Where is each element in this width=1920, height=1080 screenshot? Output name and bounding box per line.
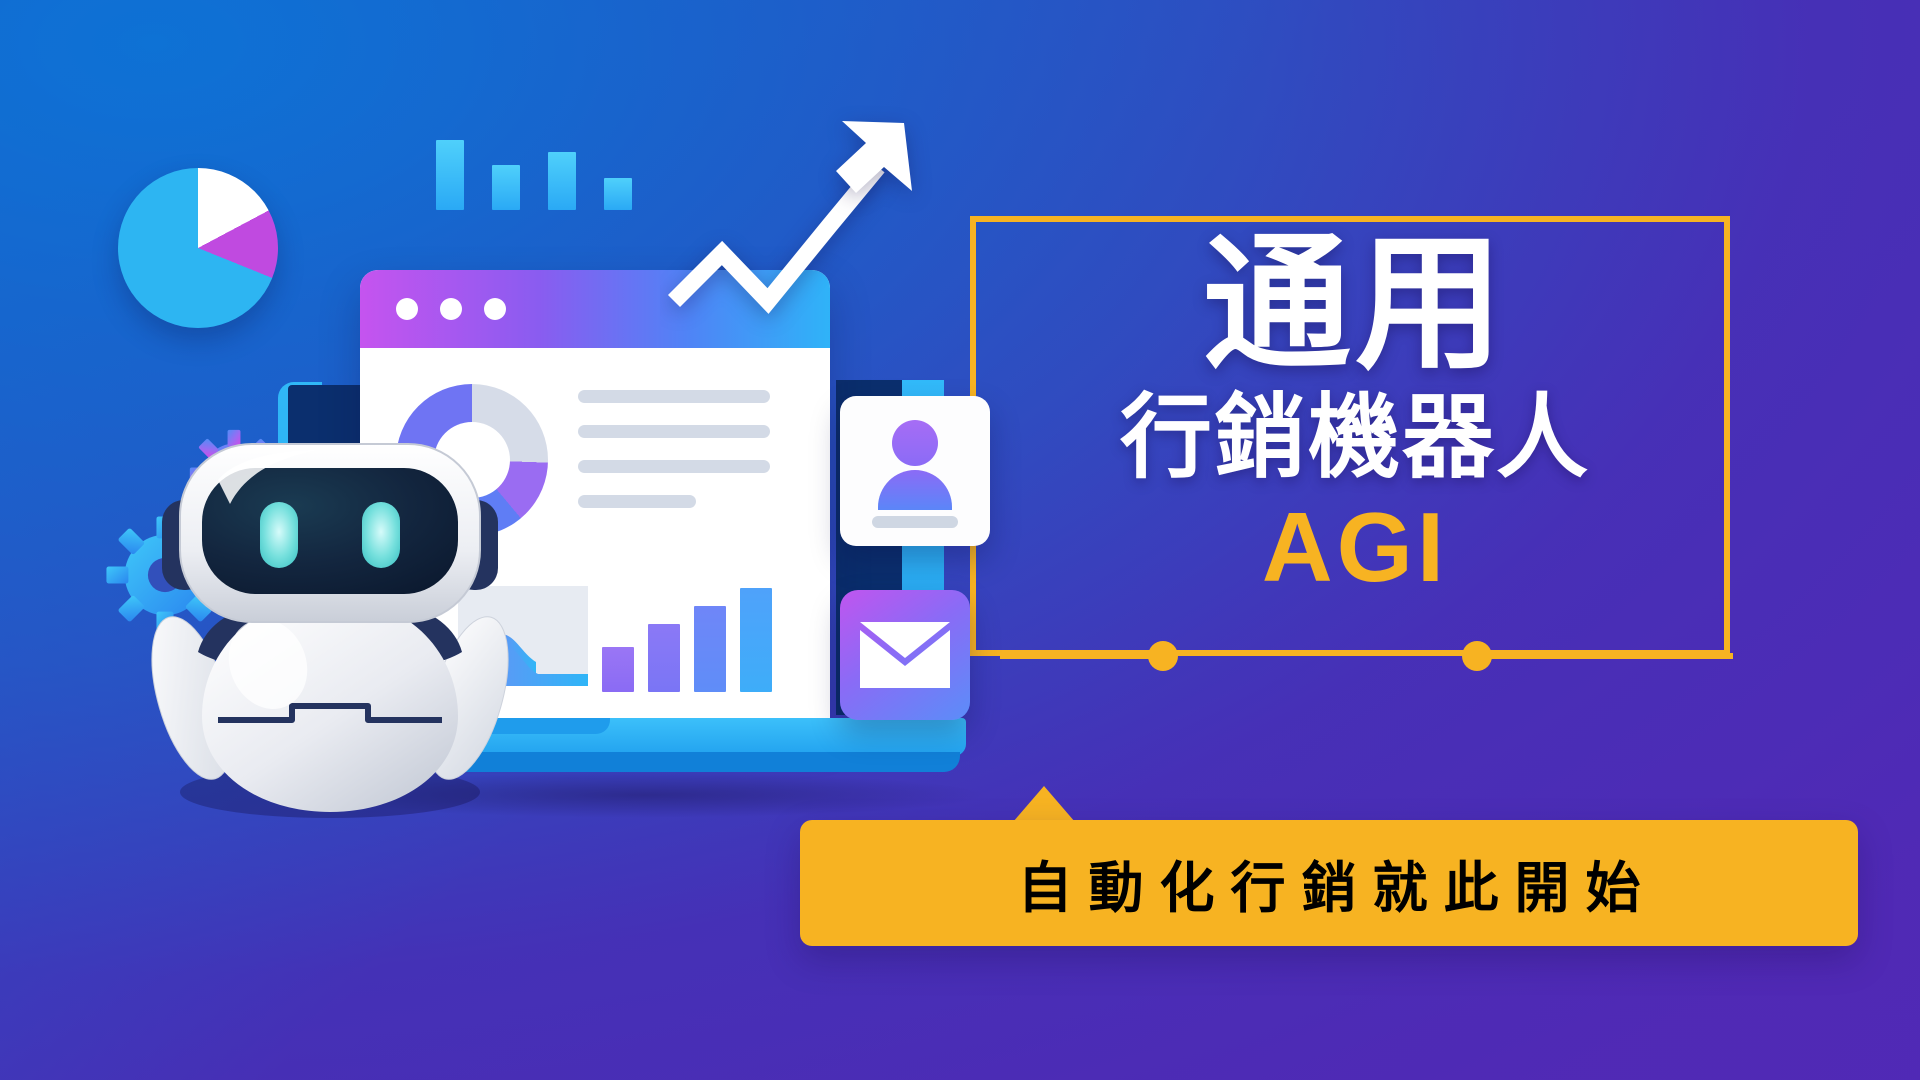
banner-text: 自動化行銷就此開始 [1001,843,1656,923]
headline-line-2: 行銷機器人 [1010,384,1700,493]
window-control-dot-icon[interactable] [440,298,462,320]
robot-mascot-icon [140,420,520,820]
background-pie-chart [118,168,278,328]
mini-bar-2 [492,165,520,210]
floating-mini-bar-chart [436,140,656,210]
dashboard-bar-3 [694,606,726,692]
mini-bar-3 [548,152,576,210]
window-control-dot-icon[interactable] [396,298,418,320]
agi-connector-line-left [1000,653,1160,659]
mini-bar-1 [436,140,464,210]
dashboard-bar-4 [740,588,772,692]
bottom-tagline-banner: 自動化行銷就此開始 [800,820,1858,946]
avatar-body-shape [878,470,952,510]
banner-notch-arrow [1013,786,1075,822]
mini-bar-4 [604,178,632,210]
envelope-glyph-icon [860,622,950,688]
text-line [578,460,770,473]
headline-agi: AGI [1010,498,1700,596]
growth-arrow-icon [660,105,980,405]
avatar-name-placeholder [872,516,958,528]
avatar-head-shape [892,420,938,466]
agi-dot-right [1462,641,1492,671]
dashboard-text-placeholder-lines [578,390,770,508]
dashboard-bar-1 [602,647,634,692]
headline-block: 通用 行銷機器人 AGI [1010,228,1700,596]
user-contact-card-icon[interactable] [840,396,990,546]
agi-dot-left [1148,641,1178,671]
window-control-dot-icon[interactable] [484,298,506,320]
text-line [578,495,696,508]
envelope-mail-icon[interactable] [840,590,970,720]
dashboard-bar-2 [648,624,680,692]
headline-line-1: 通用 [1010,228,1700,382]
dashboard-bar-chart [602,584,784,692]
banner-stage: 通用 行銷機器人 AGI 自動化行銷就此開始 [0,0,1920,1080]
agi-connector-line-right [1488,653,1733,659]
text-line [578,425,770,438]
